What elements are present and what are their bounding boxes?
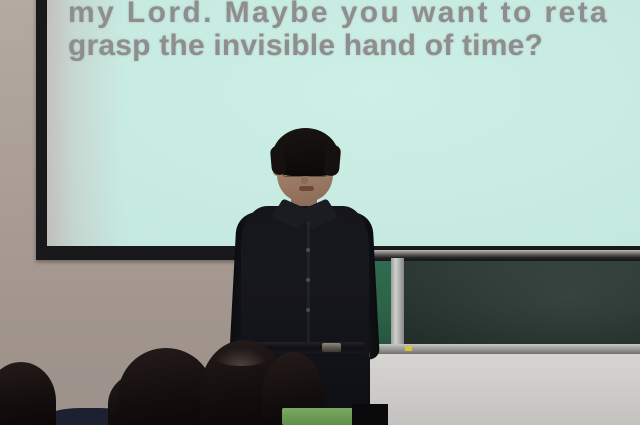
audience-hair-highlight xyxy=(214,348,268,366)
belt-buckle xyxy=(322,343,341,352)
presenter xyxy=(0,0,640,425)
presenter-mouth xyxy=(299,186,314,191)
presenter-hair-left xyxy=(270,145,286,175)
green-object xyxy=(282,408,356,425)
dark-foreground-object xyxy=(352,404,388,425)
presenter-hair-right xyxy=(324,144,342,176)
shirt-button xyxy=(306,308,310,312)
lecture-photo: my Lord. Maybe you want to reta grasp th… xyxy=(0,0,640,425)
shirt-button xyxy=(306,248,310,252)
shirt-placket xyxy=(307,222,310,342)
shirt-button xyxy=(306,278,310,282)
